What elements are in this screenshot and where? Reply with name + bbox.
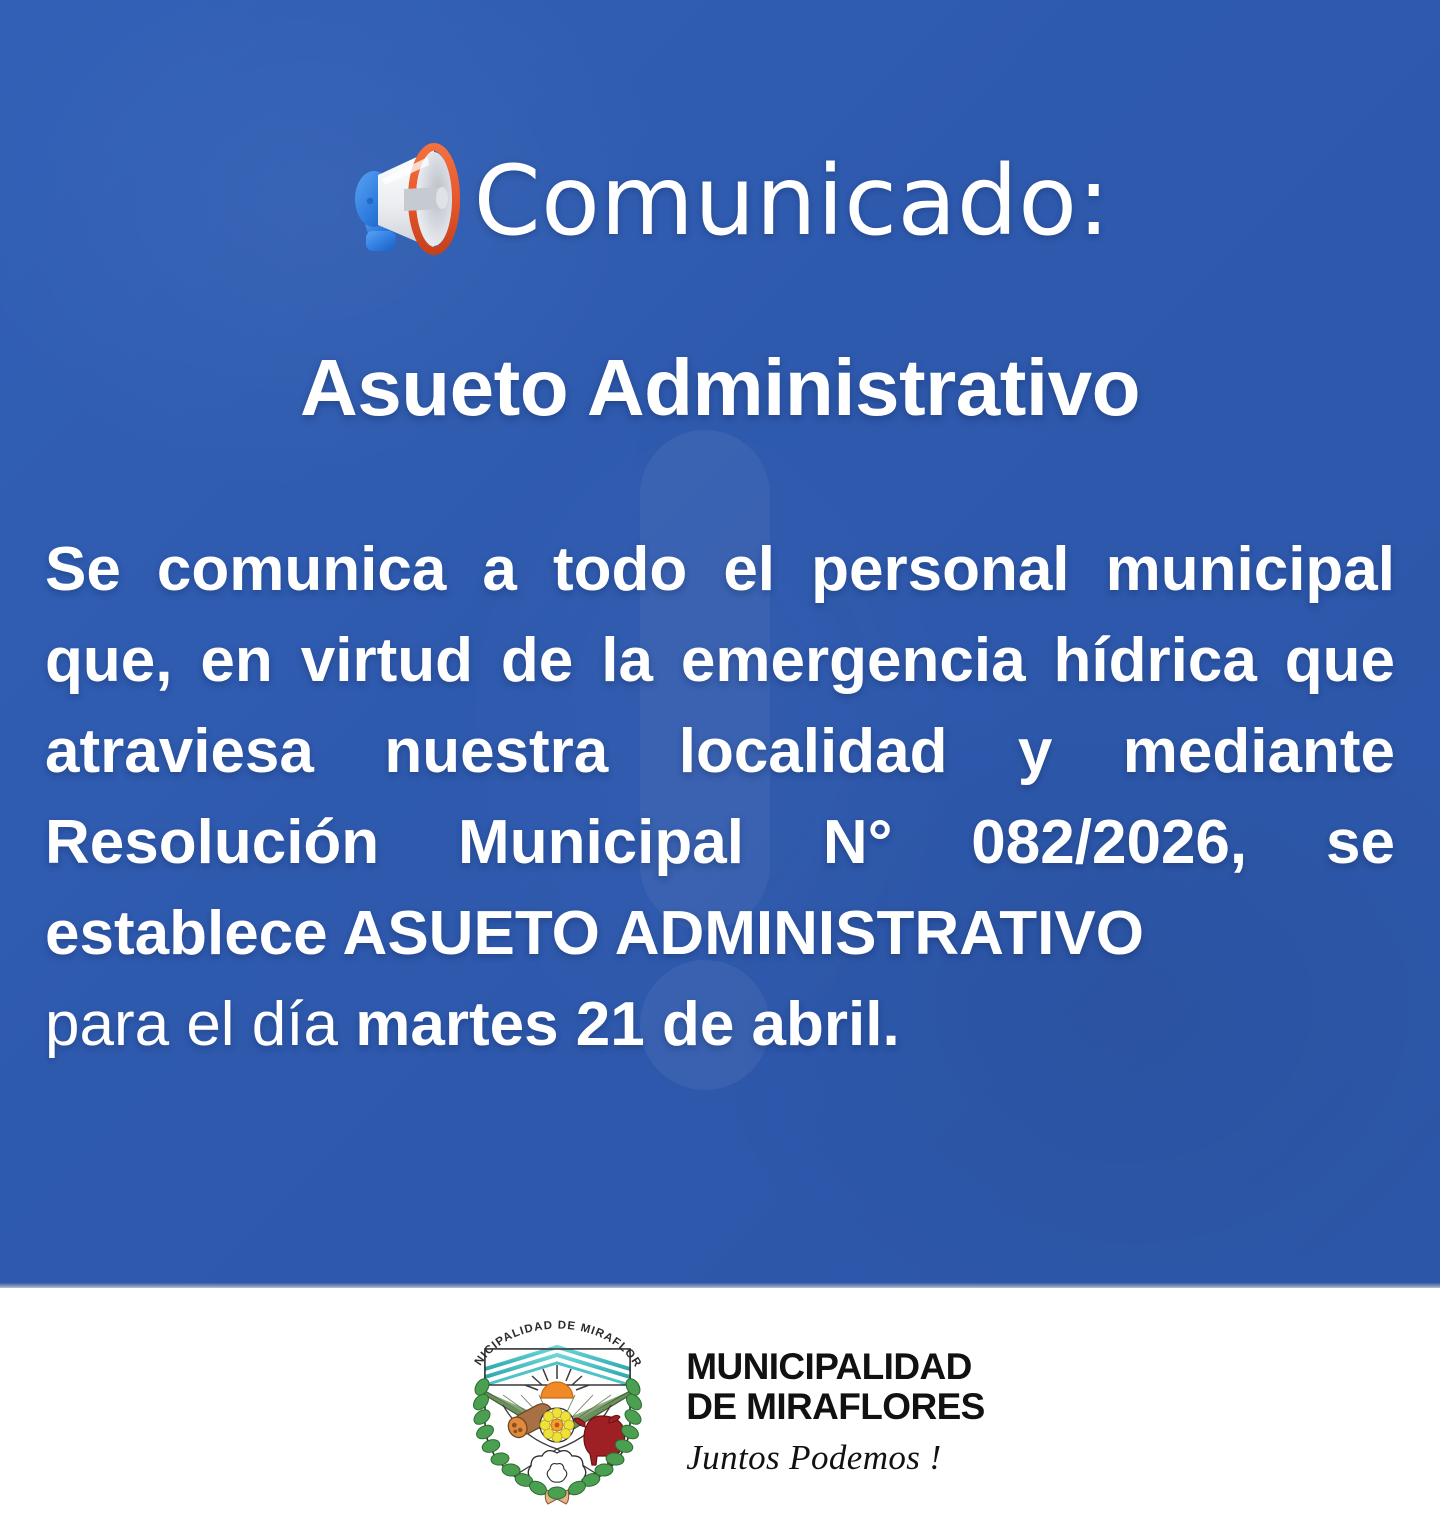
footer-branding: MUNICIPALIDAD DE MIRAFLORES MUNICIPALIDA…	[0, 1288, 1440, 1533]
announcement-poster: Comunicado: Asueto Administrativo Se com…	[0, 0, 1440, 1533]
body-segment-regular: para el día	[45, 990, 355, 1059]
brand-name: MUNICIPALIDAD DE MIRAFLORES	[686, 1347, 984, 1427]
announcement-body: Se comunica a todo el personal municipal…	[45, 524, 1395, 1070]
loudspeaker-icon	[330, 137, 480, 265]
body-segment-date: martes 21 de abril.	[355, 990, 900, 1059]
blue-content-panel: Comunicado: Asueto Administrativo Se com…	[0, 0, 1440, 1288]
body-segment-main: Se comunica a todo el personal municipal…	[45, 535, 1395, 968]
page-title: Asueto Administrativo	[0, 346, 1440, 430]
page-headline: Comunicado:	[474, 153, 1111, 249]
municipal-crest-icon: MUNICIPALIDAD DE MIRAFLORES	[455, 1313, 660, 1508]
brand-block: MUNICIPALIDAD DE MIRAFLORES Juntos Podem…	[686, 1343, 984, 1478]
header-row: Comunicado:	[0, 136, 1440, 266]
brand-slogan: Juntos Podemos !	[686, 1438, 984, 1478]
